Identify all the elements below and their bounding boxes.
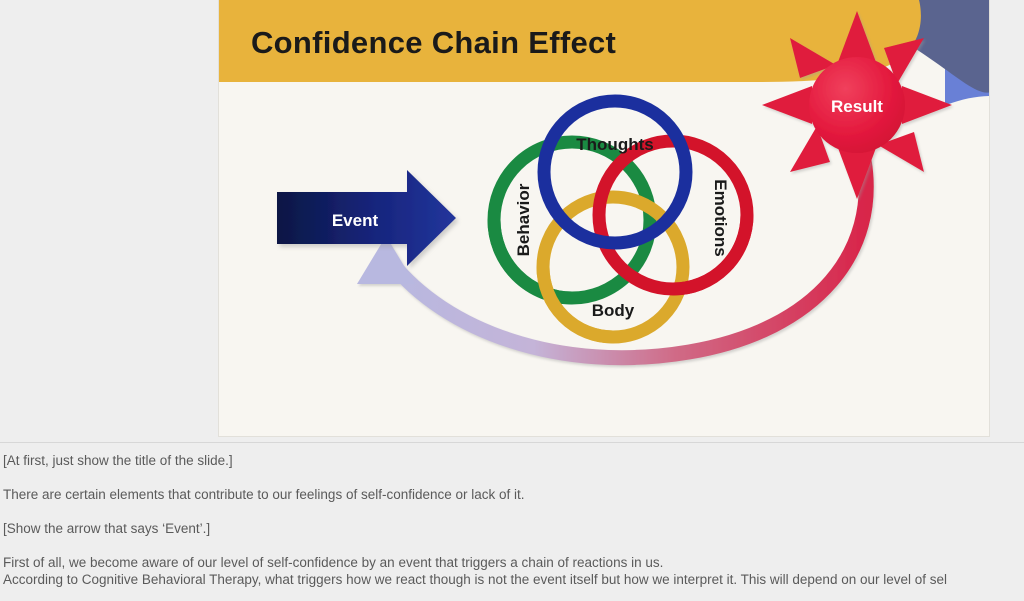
slide-title: Confidence Chain Effect	[251, 25, 616, 60]
narration-line: First of all, we become aware of our lev…	[0, 554, 1024, 571]
slide-divider	[0, 442, 1024, 443]
ring-label-behavior: Behavior	[514, 183, 533, 256]
narration-block: First of all, we become aware of our lev…	[0, 554, 1024, 588]
narration-line: According to Cognitive Behavioral Therap…	[0, 571, 1024, 588]
narration-line: [At first, just show the title of the sl…	[0, 452, 1024, 469]
ring-label-emotions: Emotions	[711, 179, 730, 256]
event-arrow-label: Event	[332, 211, 379, 230]
ring-label-thoughts: Thoughts	[576, 135, 653, 154]
narration-line: There are certain elements that contribu…	[0, 486, 1024, 503]
ring-label-body: Body	[592, 301, 635, 320]
narration-block: [Show the arrow that says ‘Event’.]	[0, 520, 1024, 537]
narration-line: [Show the arrow that says ‘Event’.]	[0, 520, 1024, 537]
slide-canvas: Confidence Chain Effect Event	[218, 0, 990, 437]
result-label: Result	[831, 97, 883, 116]
narration-block: There are certain elements that contribu…	[0, 486, 1024, 503]
slide-graphic: Confidence Chain Effect Event	[219, 0, 990, 437]
narration-transcript: [At first, just show the title of the sl…	[0, 452, 1024, 601]
narration-block: [At first, just show the title of the sl…	[0, 452, 1024, 469]
